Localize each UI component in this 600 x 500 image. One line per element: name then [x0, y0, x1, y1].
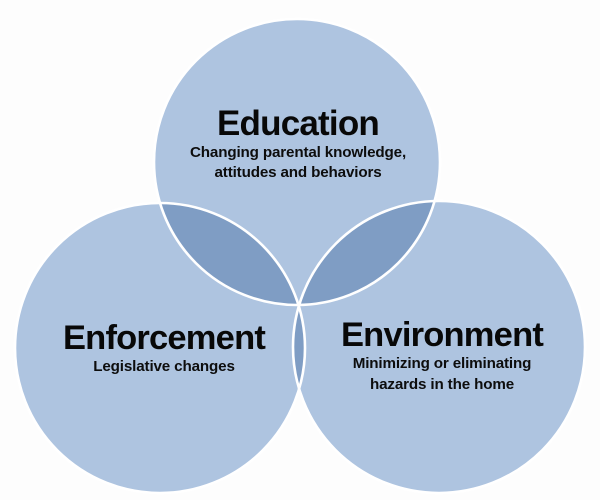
- education-subtitle-line1: Changing parental knowledge,: [152, 143, 444, 162]
- label-education: Education Changing parental knowledge, a…: [152, 106, 444, 183]
- environment-subtitle-line2: hazards in the home: [296, 375, 588, 394]
- education-title: Education: [152, 106, 444, 142]
- venn-circles-graphic: [0, 0, 600, 500]
- enforcement-subtitle-line1: Legislative changes: [14, 357, 314, 376]
- enforcement-title: Enforcement: [14, 321, 314, 356]
- circle-fills: [15, 19, 585, 493]
- label-environment: Environment Minimizing or eliminating ha…: [296, 318, 588, 394]
- environment-title: Environment: [296, 318, 588, 353]
- label-enforcement: Enforcement Legislative changes: [14, 321, 314, 377]
- environment-subtitle-line1: Minimizing or eliminating: [296, 354, 588, 373]
- venn-diagram: Education Changing parental knowledge, a…: [0, 0, 600, 500]
- education-subtitle-line2: attitudes and behaviors: [152, 163, 444, 182]
